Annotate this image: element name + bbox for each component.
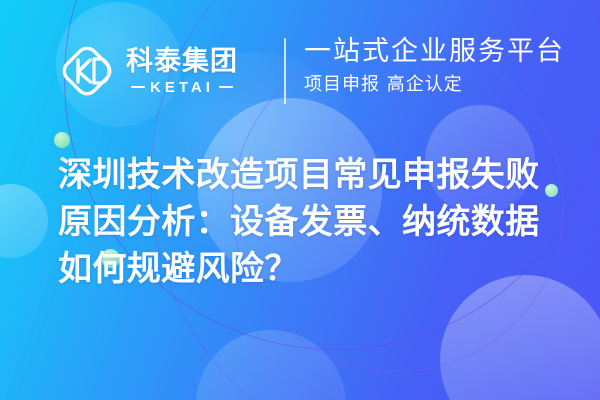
banner-root: 科泰集团 KETAI 一站式企业服务平台 项目申报 高企认定 深圳技术改造项目常… xyxy=(0,0,600,400)
decorative-circle-left-edge xyxy=(0,184,48,258)
brand-name-cn: 科泰集团 xyxy=(126,48,238,75)
brand-rule-right xyxy=(219,86,233,89)
tagline-secondary: 项目申报 高企认定 xyxy=(304,74,565,96)
decorative-circle-bottom-center xyxy=(196,330,346,400)
banner-header: 科泰集团 KETAI 一站式企业服务平台 项目申报 高企认定 xyxy=(0,0,600,130)
brand-lockup[interactable]: 科泰集团 KETAI xyxy=(56,40,238,102)
decorative-circle-bottom-right xyxy=(440,275,600,400)
brand-rule-left xyxy=(131,86,145,89)
decorative-dot-green-upper-left xyxy=(54,132,70,148)
header-tagline: 一站式企业服务平台 项目申报 高企认定 xyxy=(304,36,565,96)
brand-name-en-row: KETAI xyxy=(131,80,233,95)
tagline-primary: 一站式企业服务平台 xyxy=(304,36,565,67)
page-title: 深圳技术改造项目常见申报失败原因分析：设备发票、纳统数据如何规避风险？ xyxy=(58,152,558,293)
brand-name-en: KETAI xyxy=(150,80,214,95)
header-divider xyxy=(284,38,286,104)
ketai-monogram-icon xyxy=(56,40,118,102)
brand-wordmark: 科泰集团 KETAI xyxy=(126,48,238,95)
